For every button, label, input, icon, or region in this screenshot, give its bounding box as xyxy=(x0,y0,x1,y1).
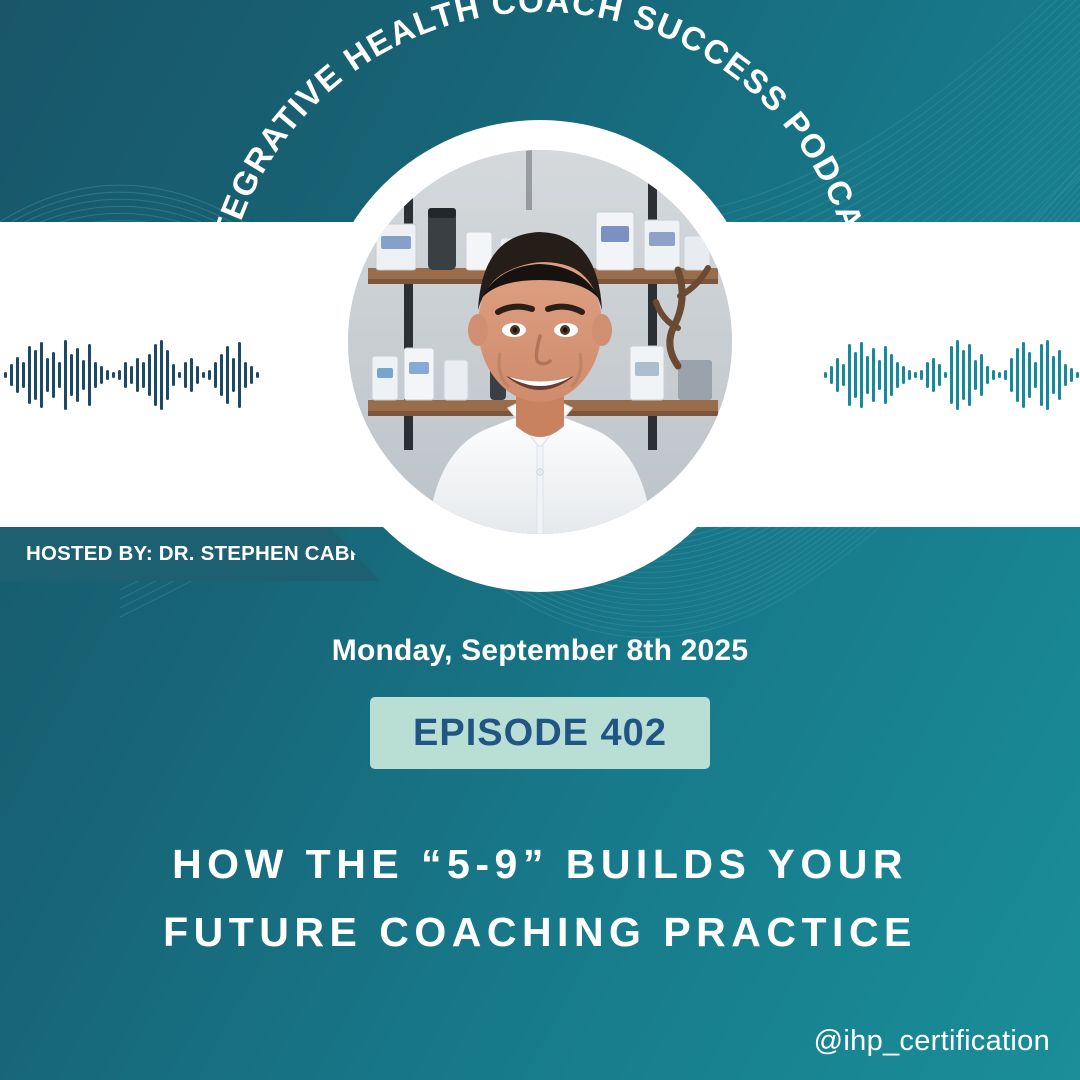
episode-number-label: EPISODE 402 xyxy=(413,712,667,755)
audio-waveform-left-icon xyxy=(2,332,260,418)
avatar xyxy=(348,150,732,534)
episode-title-line-1: HOW THE “5-9” BUILDS YOUR xyxy=(60,830,1020,898)
audio-waveform-right-icon xyxy=(822,332,1080,418)
episode-title-line-2: FUTURE COACHING PRACTICE xyxy=(60,898,1020,966)
episode-date: Monday, September 8th 2025 xyxy=(0,634,1080,668)
social-handle: @ihp_certification xyxy=(814,1025,1050,1058)
episode-number-badge: EPISODE 402 xyxy=(370,697,710,769)
hosted-by-banner: HOSTED BY: DR. STEPHEN CABRAL xyxy=(0,527,380,581)
episode-title: HOW THE “5-9” BUILDS YOUR FUTURE COACHIN… xyxy=(60,830,1020,966)
podcast-cover-canvas: INTEGRATIVE HEALTH COACH SUCCESS PODCAST… xyxy=(0,0,1080,1080)
portrait-photo-scene xyxy=(348,150,732,534)
host-portrait xyxy=(318,120,762,592)
hosted-by-label: HOSTED BY: DR. STEPHEN CABRAL xyxy=(0,542,392,566)
